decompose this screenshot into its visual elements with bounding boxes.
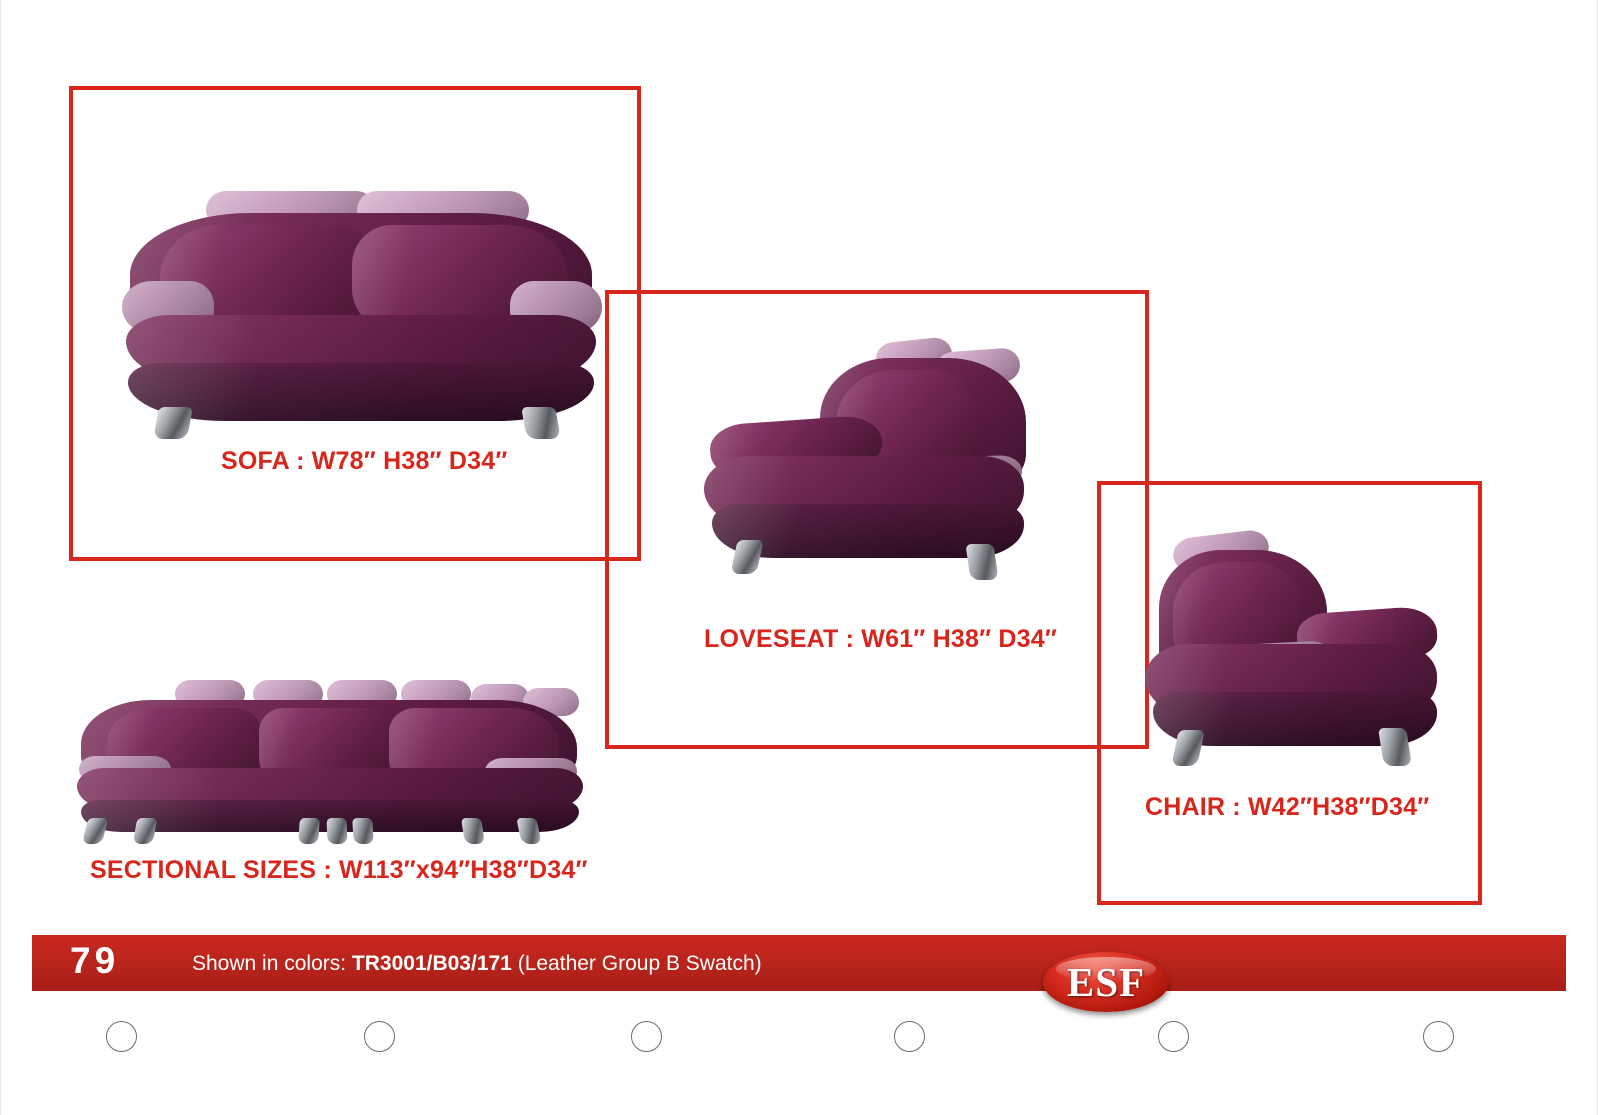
sectional-leg-4 (327, 818, 348, 844)
page-edge-left (0, 0, 1, 1115)
binding-hole (1423, 1021, 1454, 1052)
binding-hole (1158, 1021, 1189, 1052)
loveseat-image (700, 336, 1030, 586)
esf-logo-text: ESF (1043, 952, 1169, 1012)
color-code: TR3001/B03/171 (352, 952, 512, 975)
shown-in-colors-prefix: Shown in colors: (192, 952, 352, 975)
chair-label: CHAIR : W42″H38″D34″ (1145, 793, 1429, 822)
sofa-image (120, 185, 600, 450)
loveseat-label: LOVESEAT : W61″ H38″ D34″ (704, 625, 1057, 654)
sectional-image (75, 672, 585, 844)
sofa-leg-right (521, 407, 561, 439)
sectional-leg-3 (298, 818, 320, 844)
sectional-leg-6 (461, 818, 485, 844)
sofa-label: SOFA : W78″ H38″ D34″ (221, 447, 508, 476)
footer-color-info: Shown in colors: TR3001/B03/171 (Leather… (192, 952, 762, 976)
binding-hole (106, 1021, 137, 1052)
chair-image (1145, 528, 1445, 778)
binding-hole (894, 1021, 925, 1052)
sectional-leg-5 (352, 818, 374, 844)
page-number: 79 (70, 940, 119, 982)
esf-logo: ESF (1043, 952, 1169, 1012)
chair-leg-right (1378, 728, 1412, 766)
binding-hole (631, 1021, 662, 1052)
loveseat-leg-left (730, 540, 763, 574)
sectional-leg-2 (133, 818, 158, 844)
binding-hole (364, 1021, 395, 1052)
leather-group-note: (Leather Group B Swatch) (512, 952, 762, 975)
sectional-label: SECTIONAL SIZES : W113″x94″H38″D34″ (90, 856, 588, 885)
loveseat-leg-right (965, 544, 998, 580)
sofa-leg-left (153, 407, 193, 439)
catalog-page: SOFA : W78″ H38″ D34″ LOVESEAT : W61″ H3… (0, 0, 1598, 1115)
